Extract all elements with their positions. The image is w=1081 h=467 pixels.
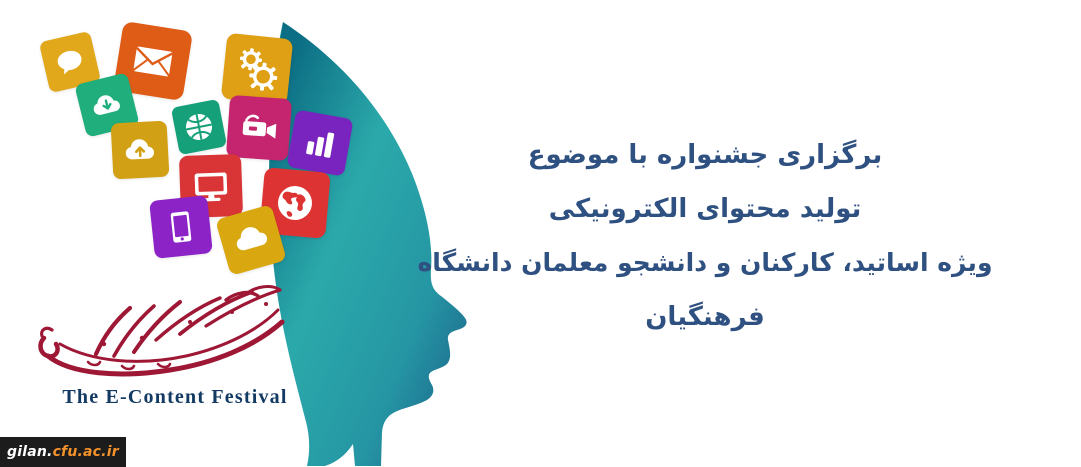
headline-line-3: ویژه اساتید، کارکنان و دانشجو معلمان دان… <box>395 236 1015 290</box>
site-watermark: gilan.cfu.ac.ir <box>0 437 126 467</box>
headline-line-2: تولید محتوای الکترونیکی <box>395 182 1015 236</box>
video-camera-icon <box>226 95 292 161</box>
cloud-upload-icon <box>111 121 170 180</box>
festival-banner: The E-Content Festival برگزاری جشنواره ب… <box>0 0 1081 467</box>
basketball-icon <box>171 99 227 155</box>
festival-english-title: The E-Content Festival <box>30 386 320 409</box>
watermark-domain-prefix: gilan. <box>7 444 53 460</box>
headline-line-1: برگزاری جشنواره با موضوع <box>395 128 1015 182</box>
headline-text-block: برگزاری جشنواره با موضوع تولید محتوای ال… <box>395 128 1015 344</box>
persian-calligraphy-logo <box>30 278 305 383</box>
bar-chart-icon <box>286 109 353 176</box>
watermark-domain-suffix: cfu.ac.ir <box>53 444 119 460</box>
gears-settings-icon <box>221 33 294 106</box>
headline-line-4: فرهنگیان <box>395 290 1015 344</box>
tablet-device-icon <box>149 195 213 259</box>
festival-logo: The E-Content Festival <box>30 278 320 438</box>
